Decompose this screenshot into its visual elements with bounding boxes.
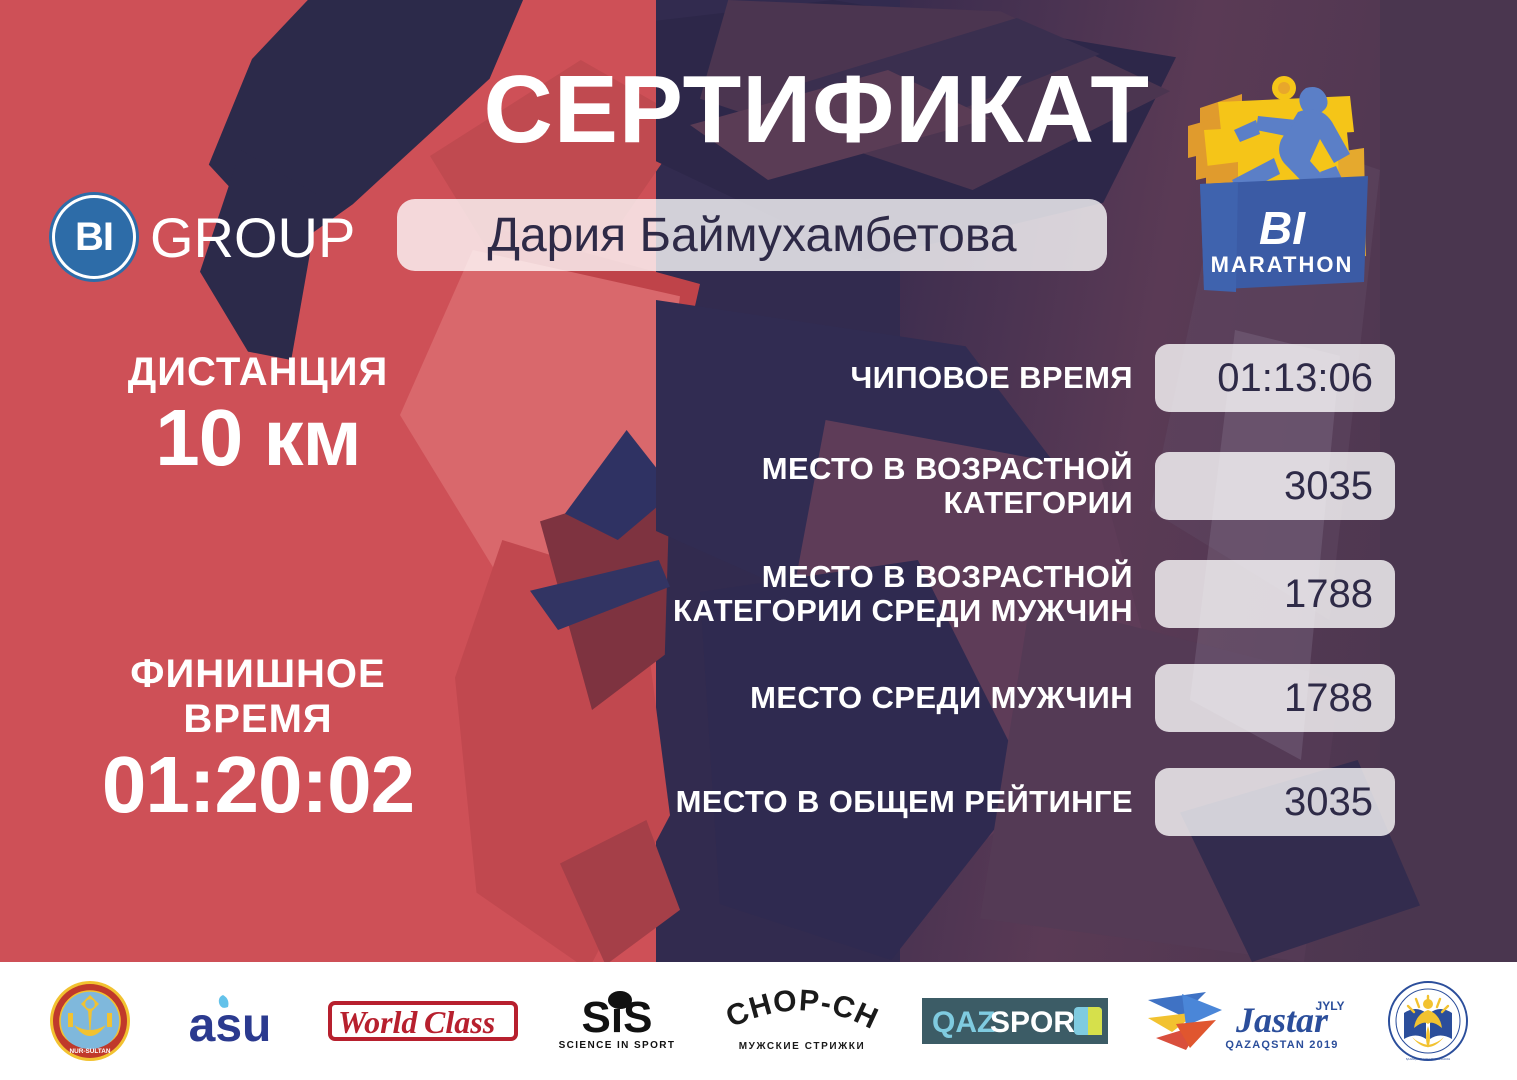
result-row: ЧИПОВОЕ ВРЕМЯ 01:13:06	[635, 344, 1395, 412]
bi-marathon-logo-icon: BI MARATHON	[1178, 66, 1388, 301]
ministry-emblem-icon: ҚАЗАҚСТАН РЕСПУБЛИКАСЫ	[1386, 979, 1470, 1063]
result-row-label: МЕСТО В ОБЩЕМ РЕЙТИНГЕ	[635, 785, 1155, 819]
bi-group-logo: BI GROUP	[52, 195, 355, 279]
asu-logo-icon: asu	[166, 991, 294, 1051]
result-row-value: 1788	[1155, 664, 1395, 732]
result-row: МЕСТО СРЕДИ МУЖЧИН 1788	[635, 660, 1395, 736]
distance-label: ДИСТАНЦИЯ	[18, 350, 498, 395]
bi-badge-icon: BI	[52, 195, 136, 279]
world-class-logo-text-1: World	[338, 1004, 418, 1040]
chop-chop-logo-icon: CHOP-CHOP МУЖСКИЕ СТРИЖКИ	[716, 987, 888, 1055]
participant-name: Дария Баймухамбетова	[487, 208, 1016, 263]
asu-logo-text: asu	[188, 999, 271, 1051]
sis-logo-icon: SiS SCIENCE IN SPORT	[552, 988, 682, 1054]
jastar-jyly-logo-superscript: JYLY	[1315, 999, 1344, 1013]
result-row: МЕСТО В ВОЗРАСТНОЙ КАТЕГОРИИ 3035	[635, 448, 1395, 524]
sponsor-ministry: ҚАЗАҚСТАН РЕСПУБЛИКАСЫ	[1386, 979, 1470, 1063]
result-row-value: 3035	[1155, 768, 1395, 836]
result-row-label: МЕСТО В ВОЗРАСТНОЙ КАТЕГОРИИ	[635, 452, 1155, 520]
certificate-canvas: СЕРТИФИКАТ BI GROUP Дария Баймухамбетова	[0, 0, 1517, 962]
nur-sultan-emblem-text: NUR-SULTAN	[69, 1048, 110, 1055]
finish-time-label-line2: ВРЕМЯ	[18, 697, 498, 742]
finish-time-value: 01:20:02	[18, 742, 498, 828]
marathon-logo-subtitle: MARATHON	[1211, 252, 1354, 277]
world-class-logo-icon: World Class	[328, 993, 518, 1049]
sponsor-jastar-jyly: Jastar JYLY QAZAQSTAN 2019	[1142, 984, 1352, 1058]
sis-logo-text: SiS	[581, 993, 652, 1042]
bi-group-wordmark: GROUP	[150, 205, 355, 270]
chop-chop-logo-text: CHOP-CHOP	[716, 987, 884, 1036]
marathon-logo-bi: BI	[1259, 202, 1306, 254]
participant-name-banner: Дария Баймухамбетова	[397, 199, 1107, 271]
result-row-value: 1788	[1155, 560, 1395, 628]
sponsor-asu: asu	[166, 991, 294, 1051]
qazsport-logo-text-1: QAZ	[932, 1006, 995, 1039]
result-row-value: 3035	[1155, 452, 1395, 520]
result-row-label: МЕСТО СРЕДИ МУЖЧИН	[635, 681, 1155, 715]
jastar-jyly-logo-icon: Jastar JYLY QAZAQSTAN 2019	[1142, 984, 1352, 1058]
bi-badge-label: BI	[75, 217, 113, 257]
sponsor-chop-chop: CHOP-CHOP МУЖСКИЕ СТРИЖКИ	[716, 987, 888, 1055]
sponsor-nur-sultan: NUR-SULTAN	[48, 979, 132, 1063]
ministry-emblem-text: ҚАЗАҚСТАН РЕСПУБЛИКАСЫ	[1405, 1057, 1450, 1061]
background-right-edge	[1380, 0, 1517, 962]
qazsport-logo-icon: QAZ SPORT	[922, 998, 1108, 1044]
sis-logo-tagline: SCIENCE IN SPORT	[558, 1040, 675, 1051]
distance-block: ДИСТАНЦИЯ 10 км	[18, 350, 498, 481]
distance-value: 10 км	[18, 395, 498, 481]
sponsor-qazsport: QAZ SPORT	[922, 998, 1108, 1044]
world-class-logo-text-2: Class	[424, 1004, 495, 1040]
result-row: МЕСТО В ОБЩЕМ РЕЙТИНГЕ 3035	[635, 764, 1395, 840]
result-row-label: ЧИПОВОЕ ВРЕМЯ	[635, 361, 1155, 395]
page-title: СЕРТИФИКАТ	[0, 62, 1150, 158]
finish-time-label-line1: ФИНИШНОЕ	[18, 652, 498, 697]
sponsor-sis: SiS SCIENCE IN SPORT	[552, 988, 682, 1054]
chop-chop-logo-tagline: МУЖСКИЕ СТРИЖКИ	[738, 1041, 865, 1052]
sponsor-bar: NUR-SULTAN asu World Class SiS SCIENCE I…	[0, 962, 1517, 1080]
sponsor-world-class: World Class	[328, 993, 518, 1049]
finish-time-block: ФИНИШНОЕ ВРЕМЯ 01:20:02	[18, 652, 498, 828]
result-row-value: 01:13:06	[1155, 344, 1395, 412]
jastar-jyly-logo-tagline: QAZAQSTAN 2019	[1225, 1039, 1338, 1051]
bi-marathon-logo: BI MARATHON	[1178, 66, 1388, 301]
result-row: МЕСТО В ВОЗРАСТНОЙ КАТЕГОРИИ СРЕДИ МУЖЧИ…	[635, 556, 1395, 632]
result-row-label: МЕСТО В ВОЗРАСТНОЙ КАТЕГОРИИ СРЕДИ МУЖЧИ…	[635, 560, 1155, 628]
nur-sultan-emblem-icon: NUR-SULTAN	[48, 979, 132, 1063]
